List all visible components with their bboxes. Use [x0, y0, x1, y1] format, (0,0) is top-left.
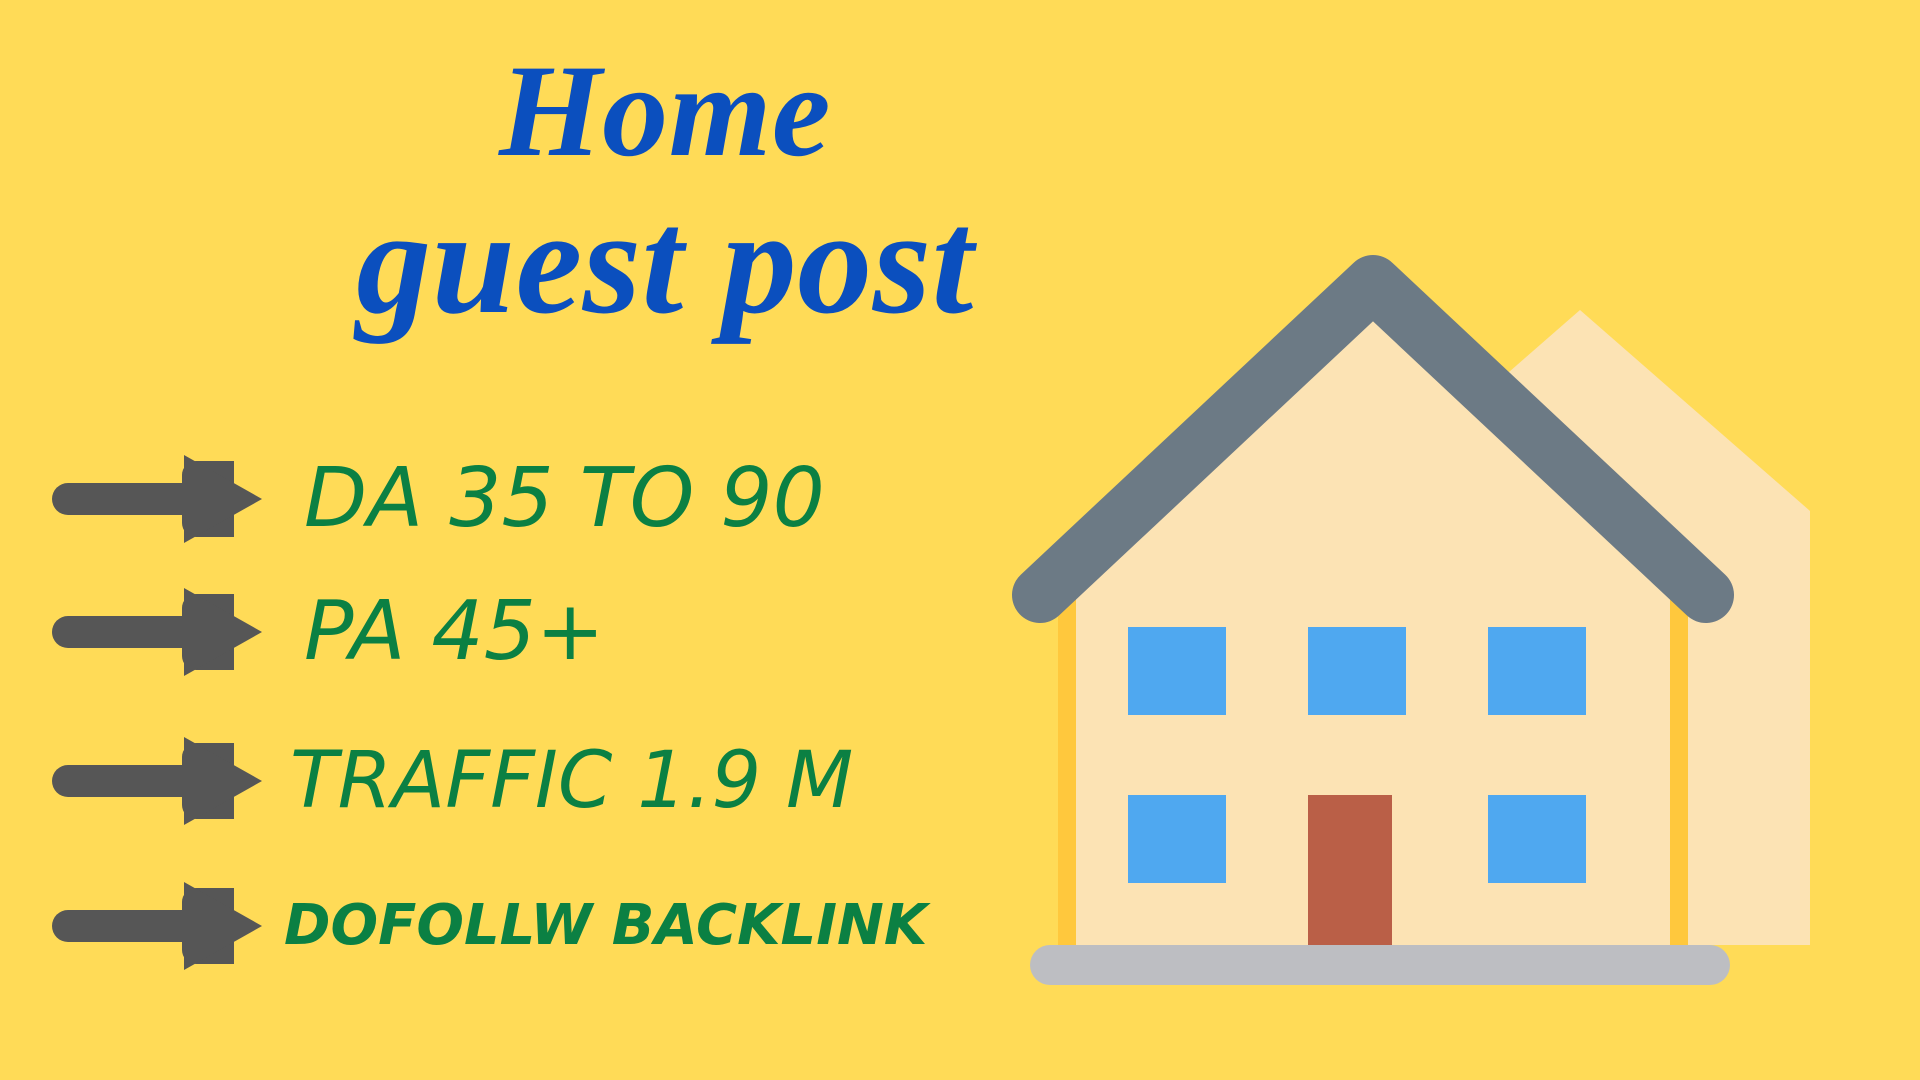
right-arrow-icon [42, 735, 270, 827]
poster-canvas: Home guest post DA 35 TO 90 PA 45+ [0, 0, 1920, 1080]
right-arrow-icon [42, 880, 270, 972]
window-lower-right [1488, 795, 1586, 883]
feature-label-da: DA 35 TO 90 [304, 458, 825, 540]
house-wall-left-edge [1058, 573, 1076, 945]
feature-list: DA 35 TO 90 PA 45+ TRAFFIC 1.9 M [42, 440, 1102, 996]
window-upper-mid [1308, 627, 1406, 715]
right-arrow-icon [42, 453, 270, 545]
list-item: PA 45+ [42, 558, 1102, 706]
window-lower-left [1128, 795, 1226, 883]
feature-label-traffic: TRAFFIC 1.9 M [290, 742, 853, 820]
feature-label-backlink: DOFOLLW BACKLINK [284, 898, 927, 954]
window-upper-left [1128, 627, 1226, 715]
right-arrow-icon [42, 586, 270, 678]
feature-label-pa: PA 45+ [304, 591, 605, 673]
house-wall-right-edge [1670, 573, 1688, 945]
list-item: TRAFFIC 1.9 M [42, 706, 1102, 856]
house-door [1308, 795, 1392, 945]
house-illustration [1010, 255, 1810, 1005]
list-item: DA 35 TO 90 [42, 440, 1102, 558]
list-item: DOFOLLW BACKLINK [42, 856, 1102, 996]
window-upper-right [1488, 627, 1586, 715]
ground-bar [1030, 945, 1730, 985]
title-line-1: Home [0, 40, 1330, 183]
